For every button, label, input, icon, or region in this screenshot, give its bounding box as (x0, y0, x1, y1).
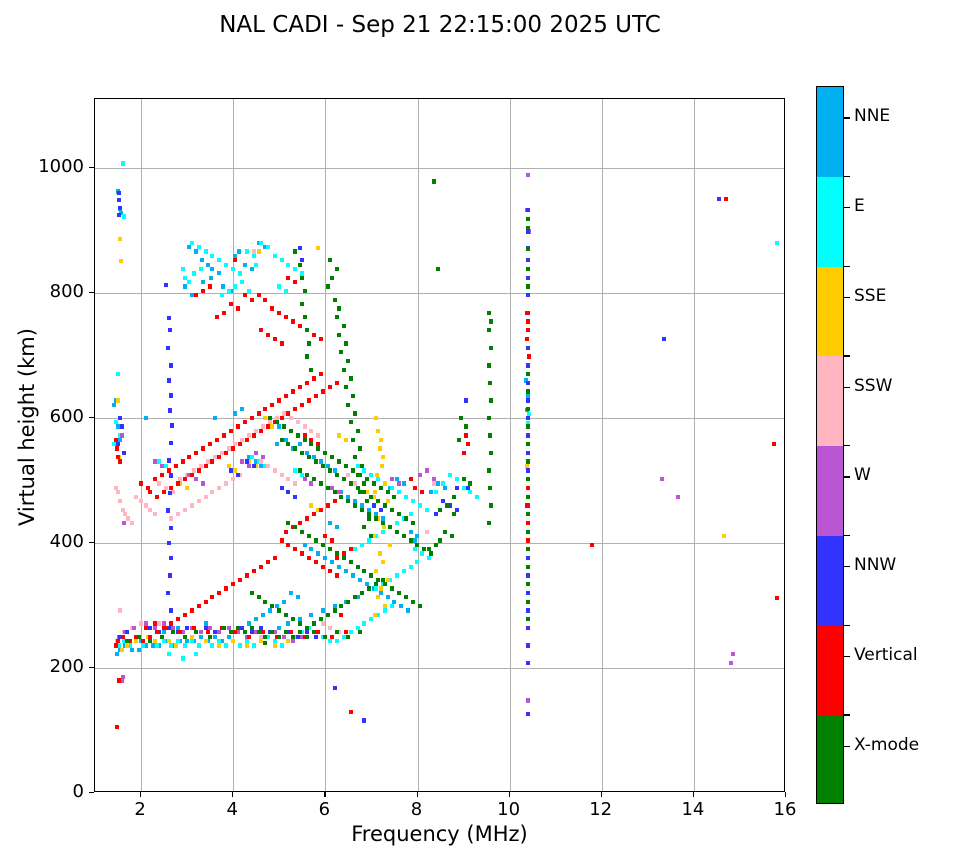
data-point-nne (298, 442, 302, 446)
data-point-x-mode (328, 547, 332, 551)
data-point-vertical (772, 442, 776, 446)
data-point-nnw (167, 541, 171, 545)
data-point-ssw (183, 508, 187, 512)
data-point-vertical (121, 635, 125, 639)
data-point-vertical (169, 621, 173, 625)
data-point-sse (381, 455, 385, 459)
data-point-x-mode (208, 635, 212, 639)
data-point-x-mode (445, 503, 449, 507)
colorbar-label-e: E (854, 196, 865, 216)
data-point-vertical (176, 481, 180, 485)
data-point-x-mode (323, 635, 327, 639)
data-point-w (303, 477, 307, 481)
data-point-x-mode (335, 473, 339, 477)
data-point-x-mode (526, 372, 530, 376)
data-point-nne (303, 543, 307, 547)
data-point-x-mode (362, 525, 366, 529)
data-point-vertical (298, 385, 302, 389)
data-point-vertical (270, 403, 274, 407)
data-point-vertical (312, 512, 316, 516)
x-tick-mark (509, 792, 510, 797)
data-point-nnw (441, 499, 445, 503)
colorbar-segment-sse[interactable] (817, 267, 843, 357)
data-point-x-mode (335, 551, 339, 555)
data-point-x-mode (526, 565, 530, 569)
data-point-vertical (238, 442, 242, 446)
data-point-x-mode (383, 582, 387, 586)
colorbar-label-nne: NNE (854, 106, 890, 126)
data-point-vertical (291, 319, 295, 323)
data-point-e (383, 608, 387, 612)
data-point-e (434, 490, 438, 494)
data-point-x-mode (365, 477, 369, 481)
data-point-vertical (243, 293, 247, 297)
data-point-nne (250, 267, 254, 271)
data-point-nnw (167, 378, 171, 382)
data-point-e (335, 639, 339, 643)
x-tick-label: 10 (479, 799, 539, 820)
data-point-e (210, 254, 214, 258)
data-point-x-mode (277, 635, 281, 639)
data-point-nne (190, 293, 194, 297)
data-point-nnw (526, 363, 530, 367)
data-point-x-mode (358, 630, 362, 634)
data-point-x-mode (369, 573, 373, 577)
data-point-nne (286, 621, 290, 625)
data-point-x-mode (362, 569, 366, 573)
colorbar-segment-vertical[interactable] (817, 626, 843, 716)
data-point-x-mode (346, 635, 350, 639)
data-point-x-mode (282, 424, 286, 428)
data-point-e (167, 652, 171, 656)
data-point-x-mode (356, 429, 360, 433)
data-point-vertical (321, 389, 325, 393)
data-point-vertical (208, 284, 212, 288)
data-point-nnw (169, 393, 173, 397)
data-point-ssw (346, 473, 350, 477)
ionogram-figure: NAL CADI - Sep 21 22:15:00 2025 UTC 2468… (0, 0, 958, 857)
data-point-x-mode (397, 512, 401, 516)
data-point-nnw (526, 229, 530, 233)
data-point-x-mode (298, 468, 302, 472)
data-point-e (197, 643, 201, 647)
data-point-x-mode (349, 376, 353, 380)
data-point-x-mode (222, 626, 226, 630)
colorbar-tick-mark (844, 746, 850, 747)
data-point-nnw (379, 508, 383, 512)
data-point-x-mode (263, 635, 267, 639)
data-point-nne (296, 595, 300, 599)
data-point-vertical (162, 490, 166, 494)
data-point-e (390, 604, 394, 608)
data-point-nne (206, 263, 210, 267)
data-point-vertical (187, 455, 191, 459)
data-point-x-mode (376, 499, 380, 503)
colorbar-tick-mark (844, 297, 850, 298)
page-title: NAL CADI - Sep 21 22:15:00 2025 UTC (0, 12, 880, 38)
data-point-nnw (526, 573, 530, 577)
data-point-vertical (115, 446, 119, 450)
data-point-nne (289, 591, 293, 595)
data-point-vertical (148, 490, 152, 494)
data-point-vertical (118, 459, 122, 463)
data-point-x-mode (300, 451, 304, 455)
data-point-vertical (266, 424, 270, 428)
data-point-nne (406, 608, 410, 612)
data-point-e (402, 569, 406, 573)
data-point-e (252, 643, 256, 647)
data-point-sse (190, 635, 194, 639)
data-point-x-mode (489, 503, 493, 507)
data-point-e (427, 556, 431, 560)
data-point-vertical (277, 398, 281, 402)
data-point-x-mode (409, 538, 413, 542)
data-point-x-mode (526, 512, 530, 516)
data-point-ssw (316, 433, 320, 437)
data-point-x-mode (314, 538, 318, 542)
gridline-vertical (602, 99, 603, 791)
data-point-x-mode (342, 324, 346, 328)
data-point-ssw (321, 621, 325, 625)
data-point-nnw (455, 486, 459, 490)
data-point-sse (120, 648, 124, 652)
data-point-vertical (316, 630, 320, 634)
data-point-x-mode (293, 446, 297, 450)
data-point-e (155, 643, 159, 647)
data-point-x-mode (342, 556, 346, 560)
colorbar-segment-e[interactable] (817, 177, 843, 267)
data-point-e (162, 639, 166, 643)
data-point-x-mode (526, 547, 530, 551)
data-point-vertical (252, 569, 256, 573)
data-point-vertical (270, 306, 274, 310)
data-point-x-mode (321, 464, 325, 468)
data-point-vertical (525, 311, 529, 315)
gridline-horizontal (95, 668, 784, 669)
gridline-horizontal (95, 543, 784, 544)
data-point-e (775, 241, 779, 245)
data-point-nne (194, 249, 198, 253)
data-point-e (197, 245, 201, 249)
data-point-x-mode (438, 508, 442, 512)
data-point-ssw (204, 495, 208, 499)
data-point-x-mode (316, 446, 320, 450)
data-point-x-mode (296, 433, 300, 437)
data-point-nnw (166, 591, 170, 595)
data-point-ssw (289, 416, 293, 420)
colorbar-boundary-tick (844, 266, 850, 267)
data-point-x-mode (326, 613, 330, 617)
data-point-x-mode (137, 635, 141, 639)
data-point-nne (436, 481, 440, 485)
data-point-vertical (222, 433, 226, 437)
data-point-vertical (335, 381, 339, 385)
data-point-x-mode (487, 328, 491, 332)
x-tick-label: 6 (294, 799, 354, 820)
data-point-w (731, 652, 735, 656)
data-point-nne (309, 547, 313, 551)
y-tick-mark (89, 792, 94, 793)
data-point-nne (199, 635, 203, 639)
data-point-e (224, 263, 228, 267)
data-point-e (284, 289, 288, 293)
data-point-vertical (176, 617, 180, 621)
data-point-w (199, 630, 203, 634)
data-point-ssw (153, 512, 157, 516)
data-point-nnw (185, 626, 189, 630)
data-point-nne (261, 613, 265, 617)
data-point-w (432, 477, 436, 481)
data-point-x-mode (284, 613, 288, 617)
plot-area[interactable] (94, 98, 785, 792)
data-point-nnw (118, 416, 122, 420)
data-point-x-mode (335, 630, 339, 634)
colorbar-boundary-tick (844, 355, 850, 356)
data-point-vertical (263, 298, 267, 302)
colorbar-segment-ssw[interactable] (817, 356, 843, 446)
data-point-vertical (466, 442, 470, 446)
data-point-ssw (157, 621, 161, 625)
data-point-x-mode (374, 582, 378, 586)
azimuth-colorbar[interactable] (816, 86, 844, 804)
data-point-e (395, 573, 399, 577)
data-point-x-mode (415, 543, 419, 547)
data-point-vertical (141, 639, 145, 643)
colorbar-tick-mark (844, 117, 850, 118)
data-point-x-mode (293, 525, 297, 529)
x-tick-mark (232, 792, 233, 797)
data-point-nnw (167, 316, 171, 320)
data-point-nnw (662, 337, 666, 341)
data-point-e (362, 621, 366, 625)
data-point-w (660, 477, 664, 481)
data-point-x-mode (434, 543, 438, 547)
data-point-vertical (298, 521, 302, 525)
data-point-sse (119, 259, 123, 263)
data-point-vertical (201, 446, 205, 450)
data-point-x-mode (488, 486, 492, 490)
data-point-x-mode (250, 626, 254, 630)
colorbar-boundary-tick (844, 535, 850, 536)
data-point-x-mode (374, 516, 378, 520)
data-point-vertical (210, 459, 214, 463)
data-point-ssw (118, 499, 122, 503)
data-point-x-mode (360, 591, 364, 595)
colorbar-tick-mark (844, 566, 850, 567)
colorbar-segment-nne[interactable] (817, 87, 843, 177)
data-point-e (199, 267, 203, 271)
data-point-vertical (339, 613, 343, 617)
data-point-w (309, 481, 313, 485)
data-point-e (187, 280, 191, 284)
x-tick-mark (324, 792, 325, 797)
data-point-nnw (526, 626, 530, 630)
data-point-x-mode (526, 477, 530, 481)
data-point-vertical (252, 433, 256, 437)
data-point-nne (316, 551, 320, 555)
data-point-nnw (170, 423, 174, 427)
data-point-nne (209, 276, 213, 280)
data-point-vertical (229, 302, 233, 306)
data-point-e (192, 271, 196, 275)
data-point-sse (373, 613, 377, 617)
data-point-x-mode (346, 499, 350, 503)
data-point-vertical (527, 354, 531, 358)
data-point-x-mode (390, 508, 394, 512)
data-point-e (252, 254, 256, 258)
data-point-vertical (333, 499, 337, 503)
data-point-vertical (349, 547, 353, 551)
data-point-x-mode (351, 438, 355, 442)
data-point-nnw (526, 416, 530, 420)
data-point-vertical (286, 411, 290, 415)
data-point-x-mode (305, 626, 309, 630)
y-tick-mark (89, 417, 94, 418)
data-point-e (121, 161, 125, 165)
data-point-x-mode (312, 477, 316, 481)
data-point-vertical (259, 565, 263, 569)
data-point-x-mode (286, 521, 290, 525)
data-point-nne (277, 626, 281, 630)
data-point-vertical (259, 429, 263, 433)
data-point-x-mode (367, 516, 371, 520)
data-point-e (238, 643, 242, 647)
data-point-x-mode (314, 459, 318, 463)
data-point-x-mode (360, 508, 364, 512)
data-point-vertical (280, 416, 284, 420)
data-point-nnw (372, 503, 376, 507)
data-point-x-mode (349, 560, 353, 564)
data-point-nne (137, 648, 141, 652)
data-point-e (455, 477, 459, 481)
data-point-nnw (293, 495, 297, 499)
data-point-vertical (462, 451, 466, 455)
y-tick-label: 1000 (0, 156, 84, 177)
data-point-vertical (277, 311, 281, 315)
data-point-x-mode (303, 315, 307, 319)
data-point-vertical (169, 486, 173, 490)
data-point-x-mode (526, 530, 530, 534)
data-point-nnw (169, 473, 173, 477)
data-point-nne (200, 258, 204, 262)
data-point-e (238, 271, 242, 275)
data-point-nne (429, 490, 433, 494)
data-point-sse (204, 639, 208, 643)
data-point-x-mode (312, 621, 316, 625)
data-point-sse (375, 473, 379, 477)
gridline-vertical (694, 99, 695, 791)
data-point-w (676, 495, 680, 499)
data-point-vertical (335, 556, 339, 560)
data-point-vertical (413, 486, 417, 490)
data-point-e (360, 543, 364, 547)
data-point-nnw (526, 346, 530, 350)
data-point-ssw (309, 429, 313, 433)
data-point-x-mode (171, 630, 175, 634)
gridline-vertical (141, 99, 142, 791)
data-point-x-mode (346, 600, 350, 604)
data-point-nnw (296, 635, 300, 639)
colorbar-segment-w[interactable] (817, 446, 843, 536)
data-point-x-mode (369, 534, 373, 538)
data-point-vertical (233, 630, 237, 634)
colorbar-boundary-tick (844, 625, 850, 626)
data-point-nnw (526, 451, 530, 455)
colorbar-label-nnw: NNW (854, 555, 896, 575)
data-point-x-mode (358, 490, 362, 494)
data-point-sse (344, 438, 348, 442)
data-point-x-mode (270, 604, 274, 608)
data-point-sse (383, 481, 387, 485)
data-point-x-mode (365, 499, 369, 503)
data-point-e (462, 486, 466, 490)
data-point-vertical (222, 311, 226, 315)
data-point-sse (388, 543, 392, 547)
data-point-e (224, 643, 228, 647)
data-point-vertical (330, 635, 334, 639)
data-point-nne (243, 263, 247, 267)
data-point-sse (379, 586, 383, 590)
data-point-x-mode (450, 534, 454, 538)
data-point-nnw (169, 526, 173, 530)
data-point-ssw (273, 468, 277, 472)
data-point-nne (210, 267, 214, 271)
data-point-x-mode (305, 328, 309, 332)
data-point-vertical (284, 394, 288, 398)
data-point-ssw (259, 459, 263, 463)
data-point-ssw (148, 508, 152, 512)
data-point-vertical (236, 306, 240, 310)
data-point-e (227, 289, 231, 293)
data-point-vertical (526, 521, 530, 525)
data-point-sse (383, 604, 387, 608)
data-point-vertical (197, 468, 201, 472)
data-point-x-mode (337, 333, 341, 337)
data-point-sse (125, 643, 129, 647)
data-point-e (220, 293, 224, 297)
y-tick-label: 200 (0, 656, 84, 677)
data-point-vertical (284, 315, 288, 319)
data-point-nnw (167, 458, 171, 462)
data-point-x-mode (351, 394, 355, 398)
data-point-e (413, 547, 417, 551)
data-point-vertical (409, 477, 413, 481)
data-point-e (190, 241, 194, 245)
data-point-nnw (526, 643, 530, 647)
data-point-x-mode (307, 341, 311, 345)
data-point-vertical (724, 197, 728, 201)
colorbar-segment-x-mode[interactable] (817, 715, 843, 804)
data-point-nne (323, 556, 327, 560)
data-point-sse (257, 249, 261, 253)
data-point-vertical (153, 621, 157, 625)
data-point-nne (309, 613, 313, 617)
data-point-vertical (236, 424, 240, 428)
data-point-vertical (286, 543, 290, 547)
data-point-sse (273, 643, 277, 647)
data-point-x-mode (328, 468, 332, 472)
data-point-e (404, 495, 408, 499)
colorbar-segment-nnw[interactable] (817, 536, 843, 626)
data-point-e (397, 490, 401, 494)
data-point-x-mode (383, 503, 387, 507)
data-point-ssw (432, 481, 436, 485)
data-point-x-mode (418, 604, 422, 608)
data-point-sse (118, 237, 122, 241)
data-point-vertical (323, 534, 327, 538)
colorbar-label-w: W (854, 465, 871, 485)
data-point-x-mode (349, 420, 353, 424)
